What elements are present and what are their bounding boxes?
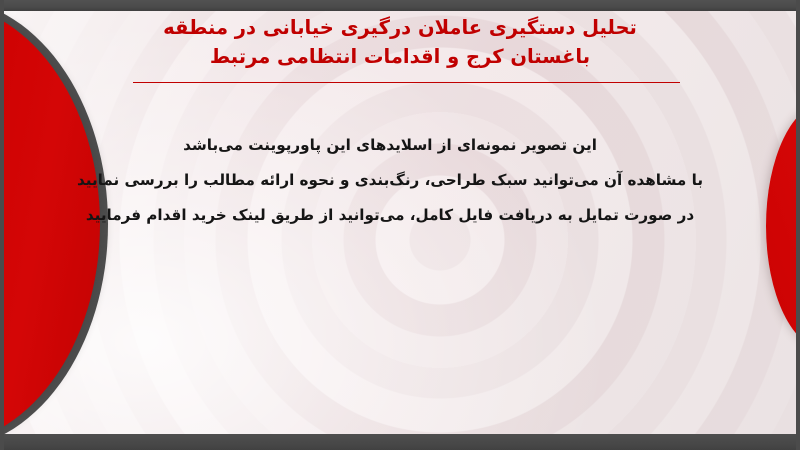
slide-body-line-2: با مشاهده آن می‌توانید سبک طراحی، رنگ‌بن…: [60, 163, 720, 198]
slide-frame-top: [0, 0, 800, 11]
slide-title-line-2: باغستان کرج و اقدامات انتظامی مرتبط: [100, 42, 700, 71]
presentation-slide: تحلیل دستگیری عاملان درگیری خیابانی در م…: [0, 0, 800, 450]
slide-canvas: تحلیل دستگیری عاملان درگیری خیابانی در م…: [0, 10, 800, 436]
slide-title-line-1: تحلیل دستگیری عاملان درگیری خیابانی در م…: [100, 13, 700, 42]
slide-frame-left: [0, 0, 4, 450]
slide-title: تحلیل دستگیری عاملان درگیری خیابانی در م…: [100, 13, 700, 71]
slide-body-line-3: در صورت تمایل به دریافت فایل کامل، می‌تو…: [60, 198, 720, 233]
slide-frame-bottom: [0, 434, 800, 450]
title-underline-rule: [133, 82, 680, 83]
slide-body: این تصویر نمونه‌ای از اسلایدهای این پاور…: [60, 128, 720, 233]
slide-body-line-1: این تصویر نمونه‌ای از اسلایدهای این پاور…: [60, 128, 720, 163]
slide-frame-right: [796, 0, 800, 450]
